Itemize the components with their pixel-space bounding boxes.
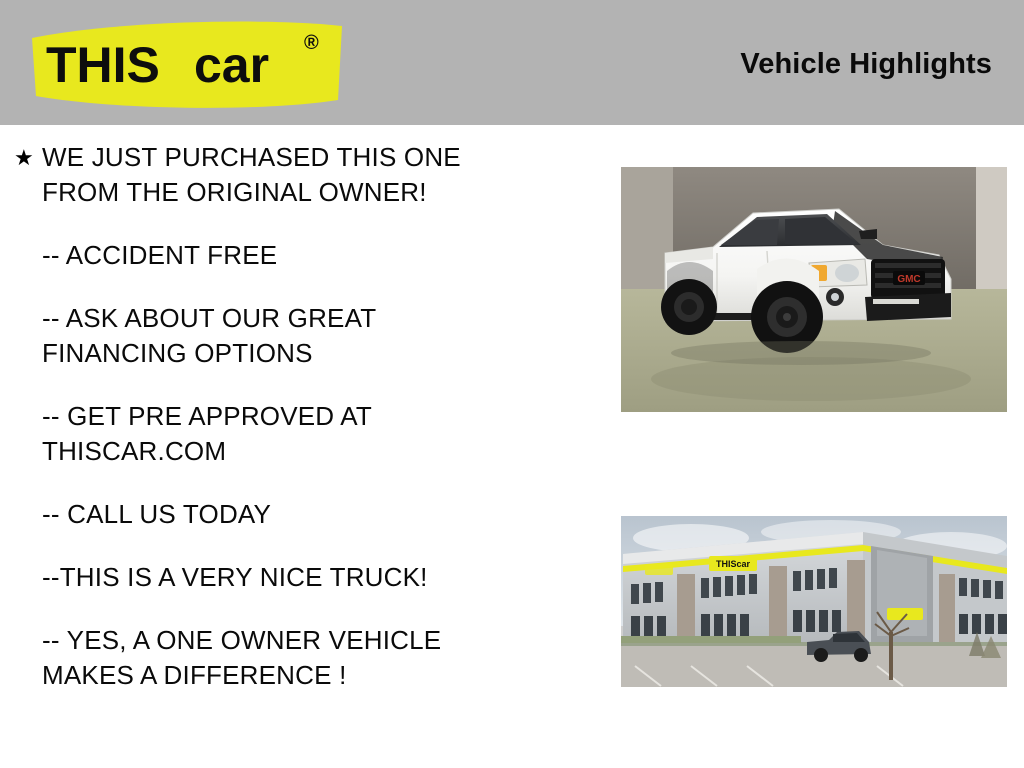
list-item: -- YES, A ONE OWNER VEHICLE MAKES A DIFF… bbox=[0, 623, 600, 693]
list-item-text: WE JUST PURCHASED THIS ONE FROM THE ORIG… bbox=[42, 140, 600, 210]
list-item-text: -- GET PRE APPROVED AT THISCAR.COM bbox=[42, 399, 600, 469]
logo-text-this: THIS bbox=[46, 37, 160, 93]
logo-icon: THIS car ® bbox=[22, 16, 352, 112]
star-icon: ★ bbox=[14, 140, 42, 175]
logo-text-car: car bbox=[194, 37, 269, 93]
list-item: -- GET PRE APPROVED AT THISCAR.COM bbox=[0, 399, 600, 469]
list-item: --THIS IS A VERY NICE TRUCK! bbox=[0, 560, 600, 595]
highlights-list: ★ WE JUST PURCHASED THIS ONE FROM THE OR… bbox=[0, 140, 600, 721]
dealership-sign-text: THIScar bbox=[716, 559, 751, 569]
list-item: -- CALL US TODAY bbox=[0, 497, 600, 532]
list-item: ★ WE JUST PURCHASED THIS ONE FROM THE OR… bbox=[0, 140, 600, 210]
page-title: Vehicle Highlights bbox=[740, 48, 992, 81]
vehicle-photo: GMC bbox=[621, 167, 1007, 412]
list-item-text: -- CALL US TODAY bbox=[42, 497, 600, 532]
dealership-photo: THIScar bbox=[621, 516, 1007, 687]
list-item-text: -- ASK ABOUT OUR GREAT FINANCING OPTIONS bbox=[42, 301, 600, 371]
gmc-badge: GMC bbox=[897, 274, 920, 285]
thiscar-logo: THIS car ® bbox=[22, 16, 352, 112]
list-item: -- ACCIDENT FREE bbox=[0, 238, 600, 273]
list-item-text: -- ACCIDENT FREE bbox=[42, 238, 600, 273]
dealership-photo-graphic: THIScar bbox=[621, 516, 1007, 687]
list-item-text: -- YES, A ONE OWNER VEHICLE MAKES A DIFF… bbox=[42, 623, 600, 693]
list-item: -- ASK ABOUT OUR GREAT FINANCING OPTIONS bbox=[0, 301, 600, 371]
list-item-text: --THIS IS A VERY NICE TRUCK! bbox=[42, 560, 600, 595]
vehicle-photo-graphic: GMC bbox=[621, 167, 1007, 412]
registered-mark-icon: ® bbox=[304, 32, 319, 54]
